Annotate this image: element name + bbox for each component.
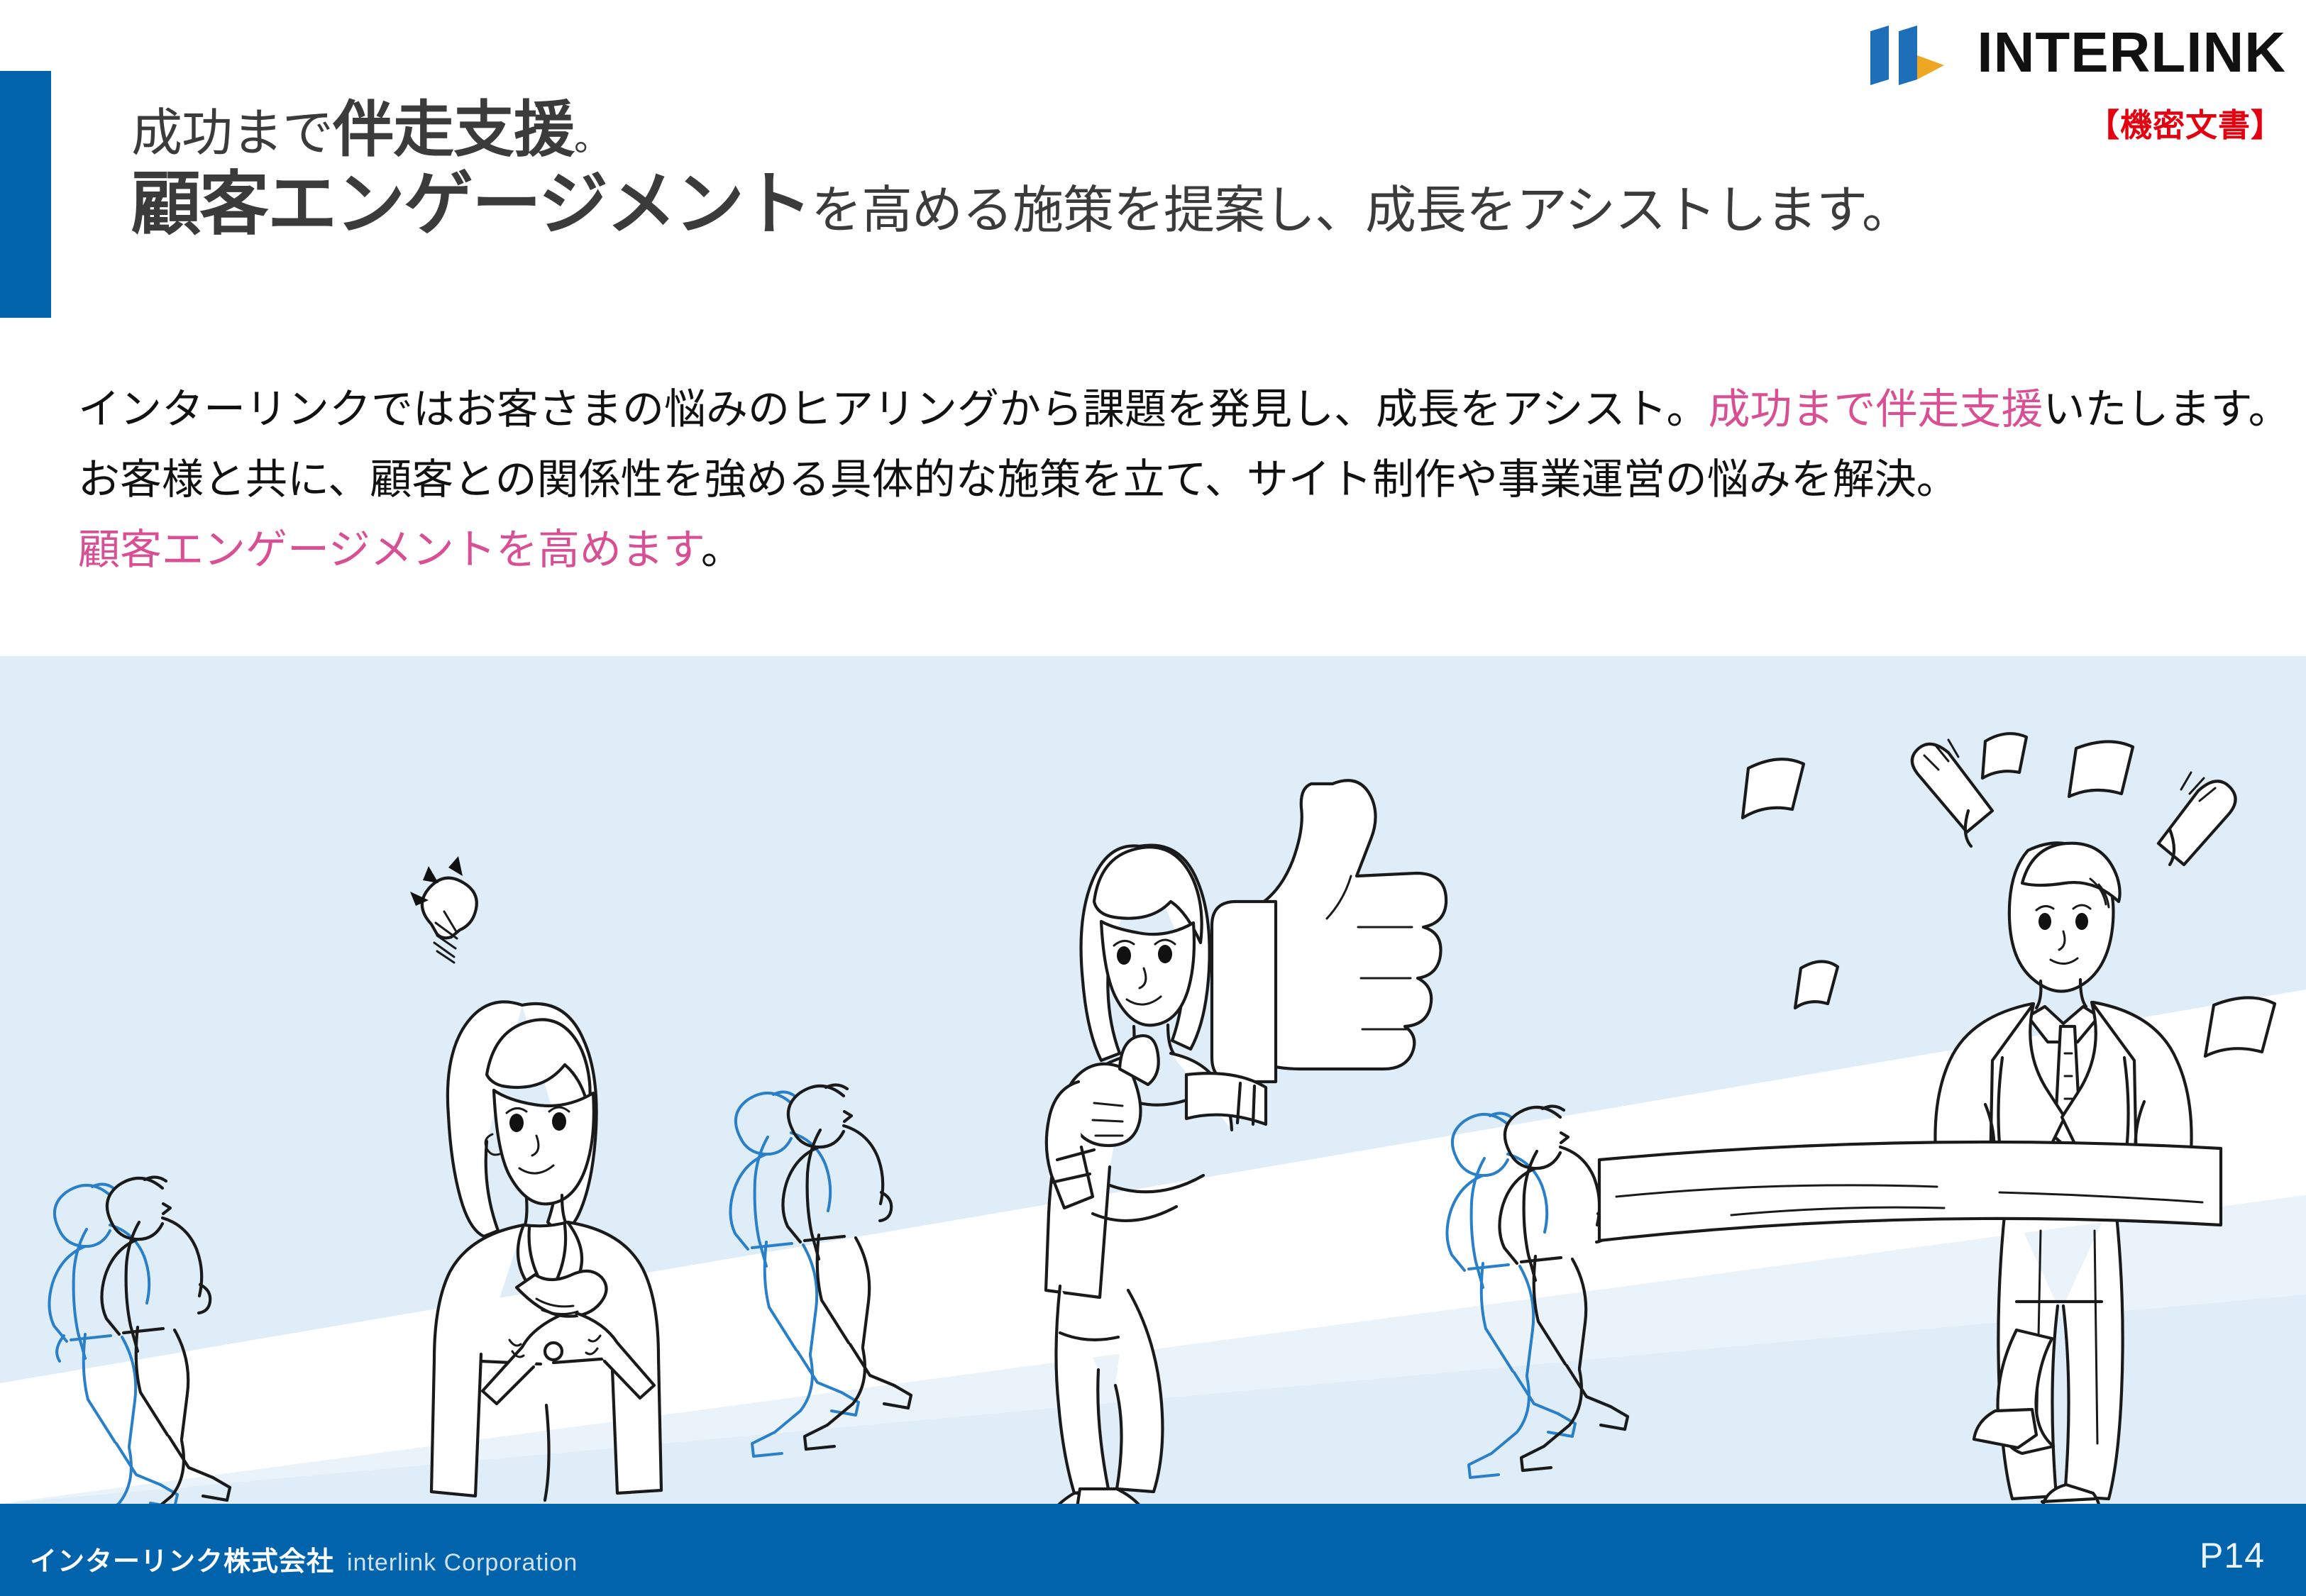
illustration-panel: .bk{fill:none;stroke:#1a1a1a;stroke-widt… — [0, 656, 2306, 1504]
interlink-bars-logo-icon — [1865, 18, 1958, 87]
body-line-3: 顧客エンゲージメントを高めます。 — [78, 515, 2249, 585]
confidential-badge: 【機密文書】 — [2087, 99, 2283, 145]
footer-company: インターリンク株式会社 interlink Corporation — [30, 1539, 578, 1578]
title-lead: 成功まで — [131, 105, 333, 162]
body-line-2: お客様と共に、顧客との関係性を強める具体的な施策を立て、サイト制作や事業運営の悩… — [78, 445, 2249, 515]
footer-bar: インターリンク株式会社 interlink Corporation P14 — [0, 1504, 2306, 1596]
slide-root: INTERLINK 【機密文書】 成功まで伴走支援。 顧客エンゲージメントを高め… — [0, 0, 2306, 1596]
illustration-scene: .bk{fill:none;stroke:#1a1a1a;stroke-widt… — [0, 656, 2306, 1504]
title-tail: を高める施策を提案し、成長をアシストします。 — [811, 182, 1912, 239]
body-line-1-highlight: 成功まで伴走支援 — [1708, 386, 2043, 433]
page-title: 成功まで伴走支援。 顧客エンゲージメントを高める施策を提案し、成長をアシストしま… — [131, 98, 1912, 243]
body-line-1: インターリンクではお客さまの悩みのヒアリングから課題を発見し、成長をアシスト。成… — [78, 375, 2249, 445]
body-line-1-b: いたします。 — [2043, 386, 2290, 433]
company-name-en: interlink Corporation — [347, 1549, 578, 1577]
title-dot: 。 — [574, 118, 609, 158]
left-accent-bar — [0, 71, 51, 318]
company-name-jp: インターリンク株式会社 — [30, 1539, 334, 1578]
title-emphasis-1: 伴走支援 — [333, 96, 574, 164]
body-line-1-a: インターリンクではお客さまの悩みのヒアリングから課題を発見し、成長をアシスト。 — [78, 386, 1708, 433]
page-number: P14 — [2200, 1535, 2265, 1576]
body-line-3-tail: 。 — [701, 526, 743, 573]
title-emphasis-2: 顧客エンゲージメント — [131, 165, 811, 243]
brand-logo: INTERLINK — [1865, 18, 2286, 87]
page-title-line-2: 顧客エンゲージメントを高める施策を提案し、成長をアシストします。 — [131, 165, 1912, 243]
logo-wordmark: INTERLINK — [1977, 24, 2286, 81]
body-copy: インターリンクではお客さまの悩みのヒアリングから課題を発見し、成長をアシスト。成… — [78, 375, 2249, 585]
body-line-3-highlight: 顧客エンゲージメントを高めます — [78, 526, 701, 573]
page-title-line-1: 成功まで伴走支援。 — [131, 98, 1912, 162]
